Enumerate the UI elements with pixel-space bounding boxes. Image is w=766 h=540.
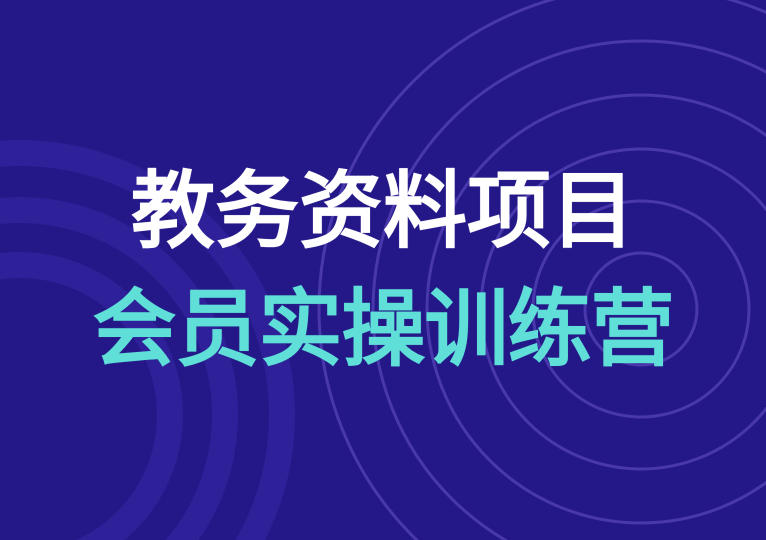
title-secondary: 会员实操训练营 [92,287,673,371]
promo-poster: 教务资料项目 会员实操训练营 [0,0,766,540]
title-primary: 教务资料项目 [131,169,635,253]
title-block: 教务资料项目 会员实操训练营 [0,0,766,540]
